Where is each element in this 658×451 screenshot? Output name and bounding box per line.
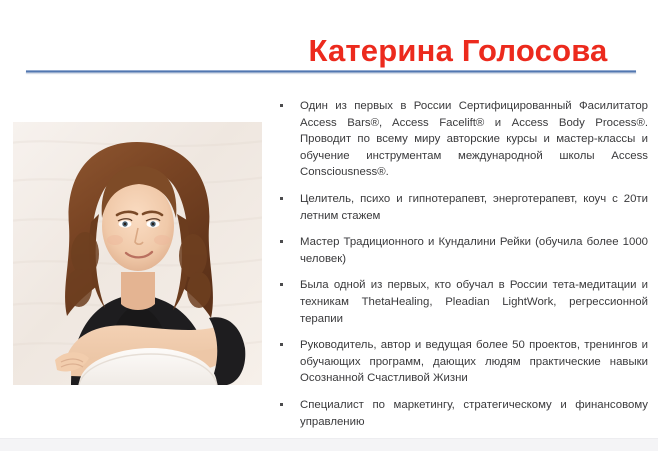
title-divider-rule xyxy=(26,70,636,73)
list-item-text: Целитель, психо и гипнотерапевт, энергот… xyxy=(300,191,648,224)
list-item: Специалист по маркетингу, стратегическом… xyxy=(276,397,648,430)
list-item-text: Один из первых в России Сертифицированны… xyxy=(300,98,648,181)
bio-bullet-list: Один из первых в России Сертифицированны… xyxy=(276,98,648,430)
slide-bottom-strip xyxy=(0,438,658,451)
list-item-text: Руководитель, автор и ведущая более 50 п… xyxy=(300,337,648,387)
portrait-photo xyxy=(13,122,262,385)
list-item: Была одной из первых, кто обучал в Росси… xyxy=(276,277,648,327)
list-item-text: Была одной из первых, кто обучал в Росси… xyxy=(300,277,648,327)
list-item: Целитель, психо и гипнотерапевт, энергот… xyxy=(276,191,648,224)
portrait-photo-graphic xyxy=(13,122,262,385)
square-bullet-icon xyxy=(280,403,283,406)
square-bullet-icon xyxy=(280,283,283,286)
list-item-text: Мастер Традиционного и Кундалини Рейки (… xyxy=(300,234,648,267)
square-bullet-icon xyxy=(280,197,283,200)
square-bullet-icon xyxy=(280,240,283,243)
list-item: Мастер Традиционного и Кундалини Рейки (… xyxy=(276,234,648,267)
square-bullet-icon xyxy=(280,343,283,346)
presentation-slide: Катерина Голосова xyxy=(0,0,658,451)
list-item: Один из первых в России Сертифицированны… xyxy=(276,98,648,181)
list-item: Руководитель, автор и ведущая более 50 п… xyxy=(276,337,648,387)
list-item-text: Специалист по маркетингу, стратегическом… xyxy=(300,397,648,430)
square-bullet-icon xyxy=(280,104,283,107)
page-title: Катерина Голосова xyxy=(268,32,648,71)
